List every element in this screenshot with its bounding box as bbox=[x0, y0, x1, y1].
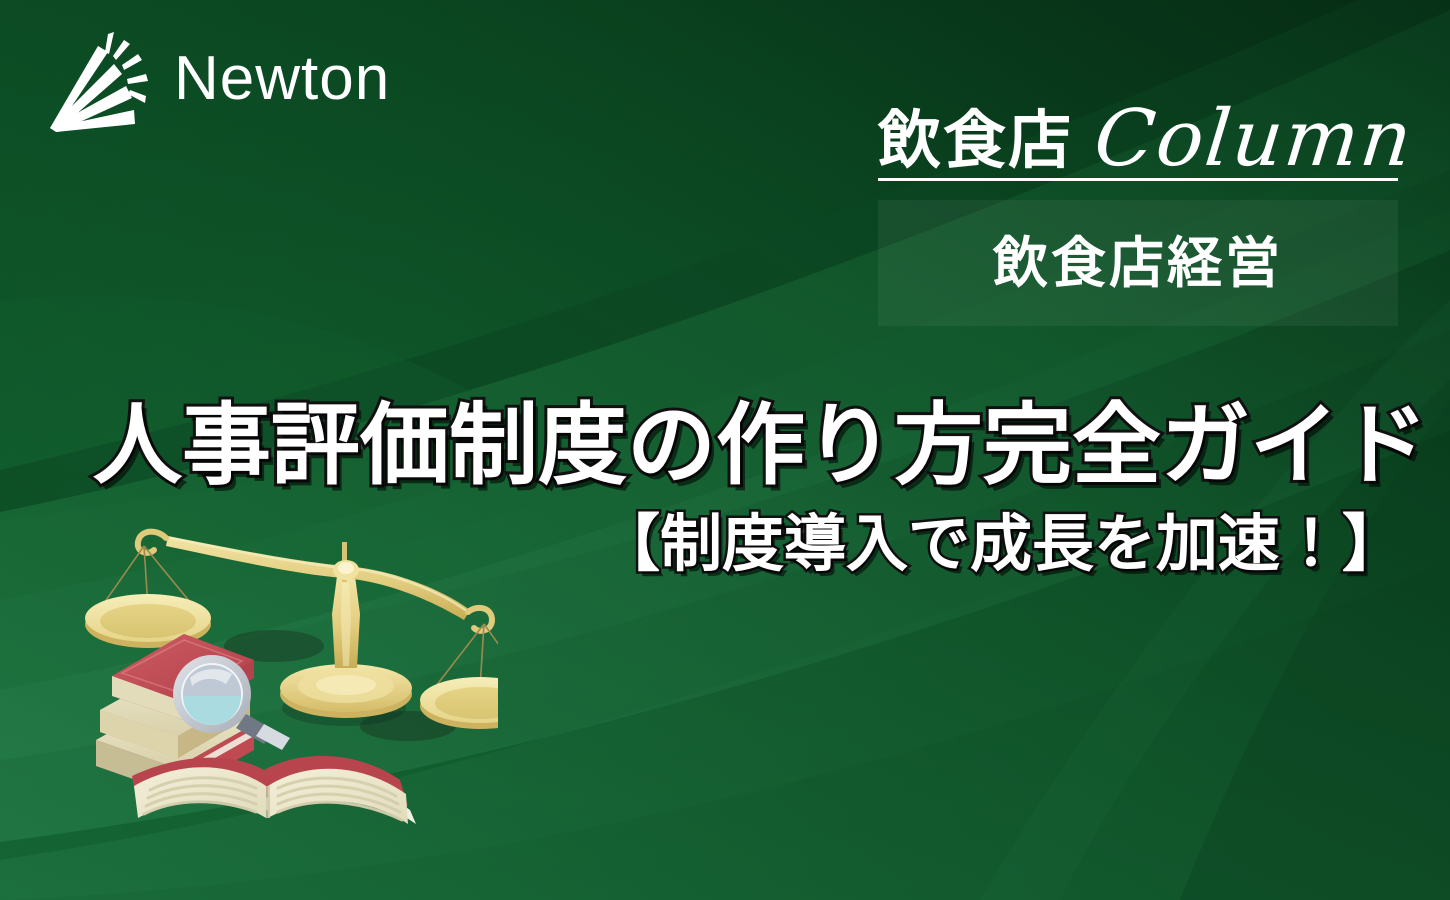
logo-wordmark: Newton bbox=[174, 48, 390, 116]
category-badge[interactable]: 飲食店経営 bbox=[878, 200, 1398, 326]
category-badge-label: 飲食店経営 bbox=[993, 236, 1283, 291]
column-heading-jp: 飲食店 bbox=[878, 109, 1073, 172]
newton-logo[interactable]: Newton bbox=[46, 28, 436, 136]
column-header: 飲食店 Column 飲食店経営 bbox=[872, 82, 1402, 326]
page-title: 人事評価制度の作り方完全ガイド bbox=[0, 398, 1428, 492]
open-book-icon bbox=[132, 756, 416, 824]
column-heading-en: Column bbox=[1091, 100, 1417, 178]
column-banner: Newton 飲食店 Column 飲食店経営 人事評価制度の作り方完全ガイド … bbox=[0, 0, 1450, 900]
column-heading: 飲食店 Column bbox=[872, 82, 1402, 174]
books-scale-magnifier-illustration bbox=[78, 518, 498, 868]
illustration-svg bbox=[78, 518, 498, 868]
book-burst-logo-icon bbox=[46, 30, 160, 134]
